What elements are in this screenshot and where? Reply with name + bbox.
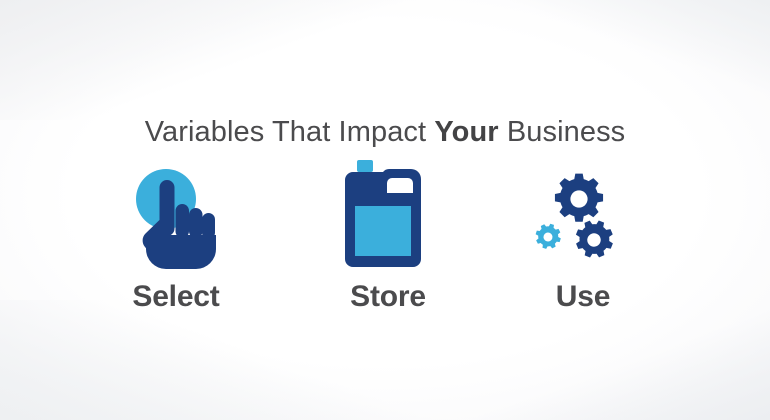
vignette-top-right	[470, 0, 770, 120]
gear-medium	[570, 214, 619, 263]
gears-icon	[483, 155, 683, 270]
jerrycan-container-icon	[288, 155, 488, 270]
card-select[interactable]: Select	[76, 155, 276, 340]
jerrycan-label-panel	[355, 206, 411, 256]
slide-title-suffix: Business	[499, 116, 626, 148]
card-select-label: Select	[76, 278, 276, 316]
slide-title: Variables That Impact Your Business	[0, 112, 770, 152]
jerrycan-cap	[357, 160, 373, 172]
gear-small	[532, 220, 564, 252]
gear-large	[555, 173, 603, 221]
icon-card-row: Select Store	[0, 155, 770, 340]
card-store-label: Store	[288, 278, 488, 316]
slide-canvas: Variables That Impact Your Business	[0, 0, 770, 420]
card-use[interactable]: Use	[483, 155, 683, 340]
card-store[interactable]: Store	[288, 155, 488, 340]
pointing-hand-tap-icon	[76, 155, 276, 270]
vignette-top	[0, 0, 770, 120]
card-use-label: Use	[483, 278, 683, 316]
slide-title-emphasis: Your	[434, 116, 498, 148]
slide-title-prefix: Variables That Impact	[145, 116, 435, 148]
jerrycan-handle	[385, 193, 417, 203]
